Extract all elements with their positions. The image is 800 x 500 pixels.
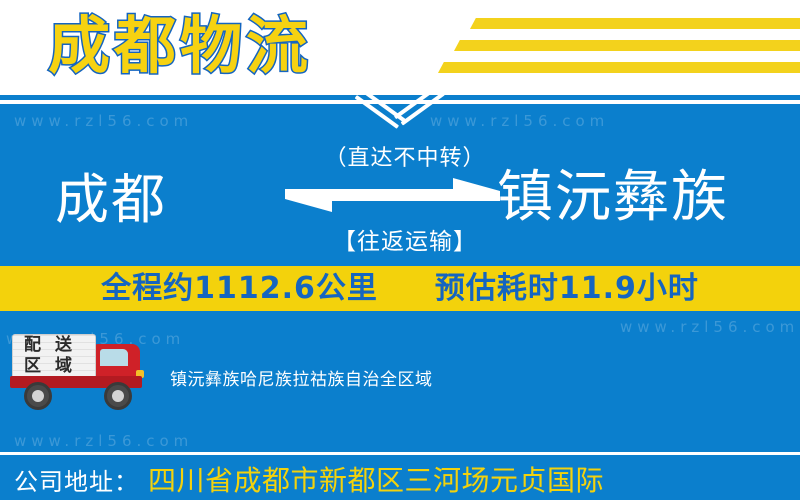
delivery-area-text: 镇沅彝族哈尼族拉祜族自治全区域 [170, 365, 433, 390]
watermark: www.rzl56.com [620, 318, 799, 336]
duration-value: 预估耗时11.9小时 [435, 271, 699, 306]
round-trip-label: 【往返运输】 [275, 222, 535, 256]
page-title: 成都物流 [48, 4, 312, 88]
stripe-2 [454, 40, 800, 51]
company-address-value: 四川省成都市新都区三河场元贞国际 [148, 459, 604, 499]
truck-cargo-label-line2: 区 域 [14, 356, 86, 377]
header-bar: 成都物流 [0, 0, 800, 95]
distance-value: 全程约1112.6公里 [101, 271, 378, 306]
company-address-label: 公司地址： [14, 462, 139, 497]
truck-wheel-front [104, 382, 132, 410]
stripe-3 [438, 62, 800, 73]
wheel-hub [32, 390, 44, 402]
truck-cargo-label-line1: 配 送 [14, 335, 86, 356]
direct-service-label: （直达不中转） [275, 140, 535, 172]
arrow-right-icon [285, 178, 500, 195]
stats-text: 全程约1112.6公里 预估耗时11.9小时 [0, 270, 800, 308]
bidirectional-arrow-icon [285, 178, 500, 214]
logistics-banner: 成都物流 www.rzl56.com www.rzl56.com www.rzl… [0, 0, 800, 500]
wheel-hub [112, 390, 124, 402]
destination-city: 镇沅彝族 [497, 168, 729, 228]
watermark: www.rzl56.com [14, 112, 193, 130]
truck-cargo-label: 配 送 区 域 [14, 335, 86, 377]
truck-wheel-rear [24, 382, 52, 410]
watermark: www.rzl56.com [14, 432, 193, 450]
stripe-1 [470, 18, 800, 29]
origin-city: 成都 [55, 170, 167, 230]
delivery-truck-icon: 配 送 区 域 [8, 332, 156, 400]
truck-window [100, 349, 128, 366]
watermark: www.rzl56.com [430, 112, 609, 130]
decorative-stripes [404, 14, 800, 80]
arrow-left-icon [285, 195, 500, 212]
